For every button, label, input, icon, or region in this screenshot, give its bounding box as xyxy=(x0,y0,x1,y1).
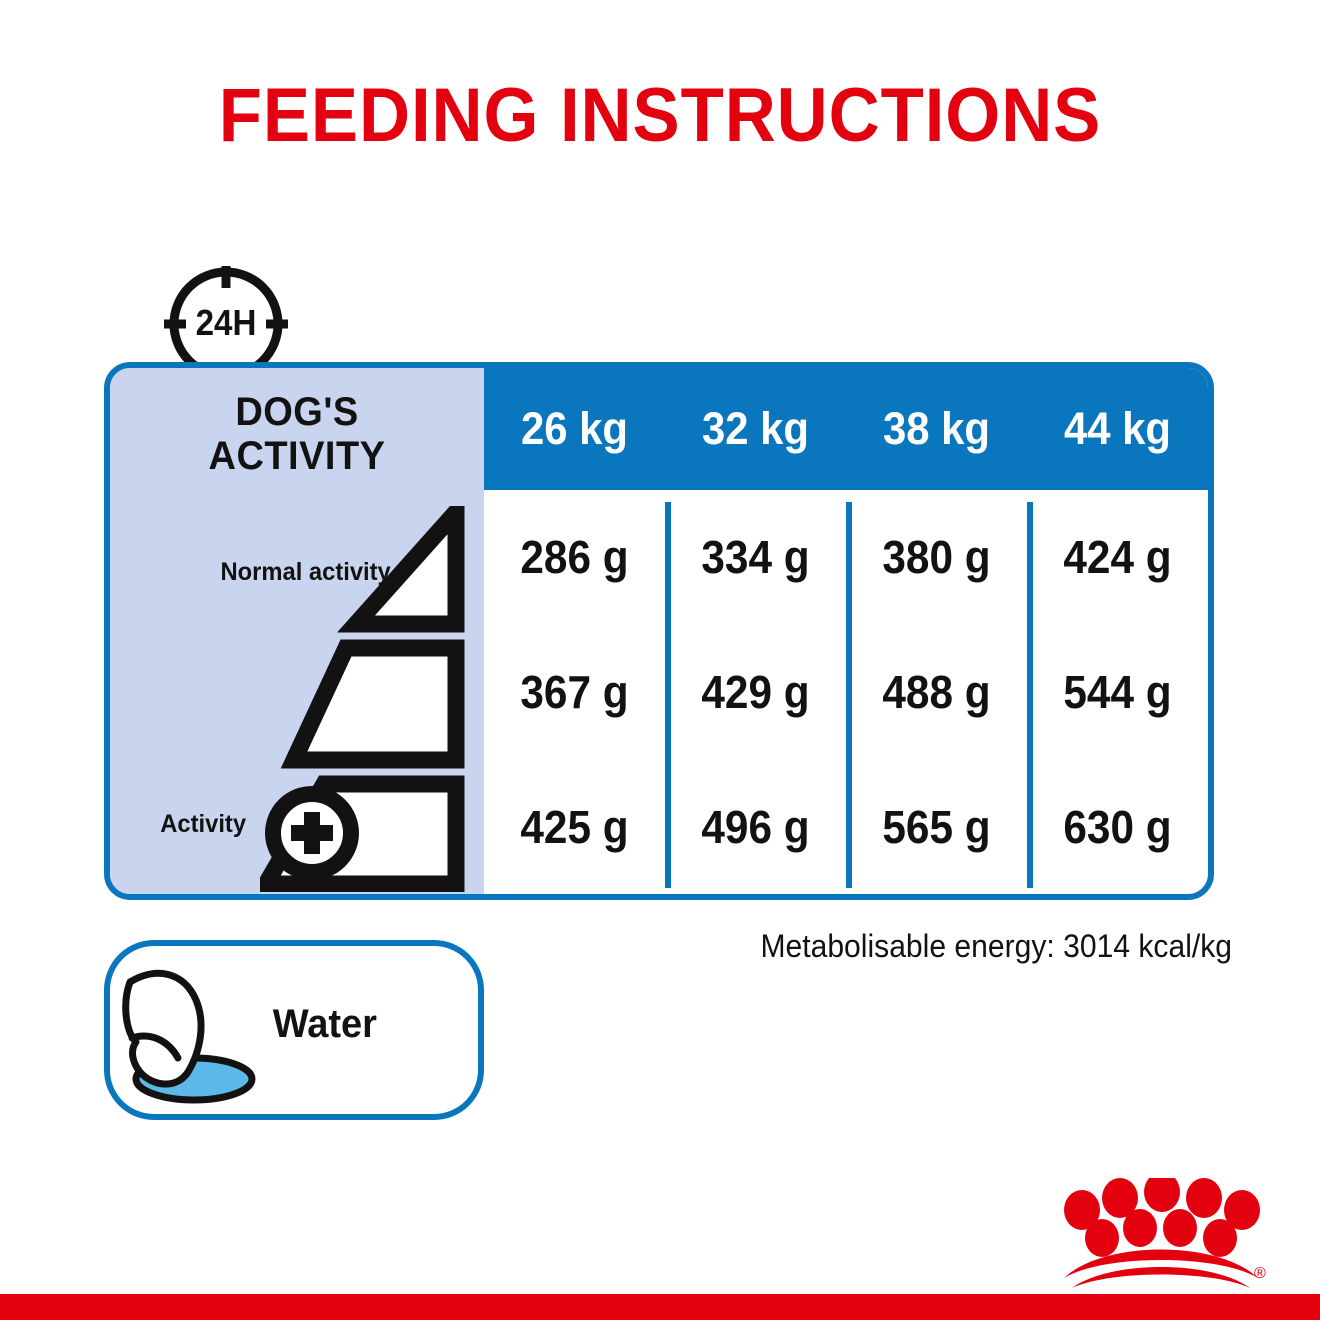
ration-data-grid: 286 g 367 g 425 g 334 g 429 g 496 g 380 … xyxy=(484,490,1208,894)
ration-cell: 630 g xyxy=(1034,759,1201,894)
24h-label: 24H xyxy=(154,302,298,344)
activity-title-line-2: ACTIVITY xyxy=(209,434,386,478)
ration-column: 424 g 544 g 630 g xyxy=(1027,490,1208,894)
ration-cell: 367 g xyxy=(491,625,658,760)
ration-column: 334 g 429 g 496 g xyxy=(665,490,846,894)
page-title: FEEDING INSTRUCTIONS xyxy=(46,72,1274,159)
activity-title-line-1: DOG'S xyxy=(235,390,358,434)
weight-column-header: 38 kg xyxy=(852,368,1020,490)
ration-cell: 425 g xyxy=(491,759,658,894)
weight-header-row: 26 kg 32 kg 38 kg 44 kg xyxy=(484,368,1208,490)
registered-mark: ® xyxy=(1254,1265,1266,1282)
royal-canin-crown-logo: ® xyxy=(1058,1178,1270,1288)
dogs-activity-panel: DOG'S ACTIVITY Normal activity Activity xyxy=(110,368,484,894)
ration-cell: 496 g xyxy=(672,759,839,894)
ration-cell: 380 g xyxy=(853,490,1020,625)
ration-column: 380 g 488 g 565 g xyxy=(846,490,1027,894)
24h-badge: 24H xyxy=(148,262,304,372)
ration-cell: 429 g xyxy=(672,625,839,760)
ration-column: 286 g 367 g 425 g xyxy=(484,490,665,894)
weight-column-header: 44 kg xyxy=(1033,368,1201,490)
water-label: Water xyxy=(273,1002,377,1047)
ration-cell: 334 g xyxy=(672,490,839,625)
dog-drinking-water-icon xyxy=(116,960,276,1112)
ration-cell: 424 g xyxy=(1034,490,1201,625)
water-box: Water xyxy=(104,940,484,1120)
ration-cell: 488 g xyxy=(853,625,1020,760)
activity-ramp-icon xyxy=(260,506,474,892)
weight-column-header: 26 kg xyxy=(490,368,658,490)
dogs-activity-title: DOG'S ACTIVITY xyxy=(119,390,474,478)
bottom-red-bar xyxy=(0,1294,1320,1320)
weight-column-header: 32 kg xyxy=(671,368,839,490)
ration-cell: 286 g xyxy=(491,490,658,625)
activity-plus-label: Activity xyxy=(160,810,246,839)
ration-cell: 565 g xyxy=(853,759,1020,894)
ration-cell: 544 g xyxy=(1034,625,1201,760)
feeding-table: DOG'S ACTIVITY Normal activity Activity … xyxy=(104,362,1214,900)
